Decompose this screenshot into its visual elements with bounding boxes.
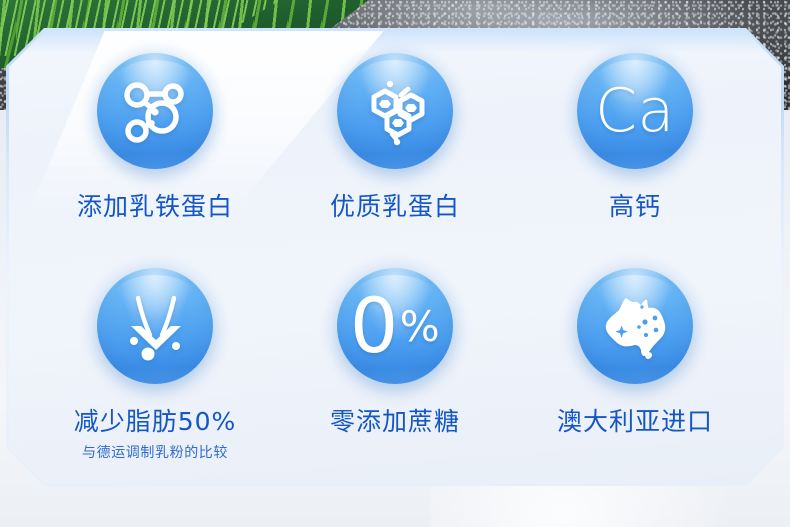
orb-wrapper (329, 45, 461, 177)
orb-circle (97, 53, 213, 169)
feature-label: 减少脂肪50% (74, 408, 237, 436)
feature-item-lactoferrin[interactable]: 添加乳铁蛋白 (35, 45, 275, 256)
feature-grid: 添加乳铁蛋白 (9, 31, 781, 483)
feature-card-inner: 添加乳铁蛋白 (9, 31, 781, 483)
feature-sublabel: 与德运调制乳粉的比较 (82, 442, 228, 462)
feature-label: 澳大利亚进口 (557, 408, 713, 436)
feature-label: 零添加蔗糖 (330, 408, 460, 436)
feature-item-no-added-sugar[interactable]: 0 % 零添加蔗糖 (275, 256, 515, 467)
zero-percent-icon: 0 % (350, 288, 440, 364)
feature-item-high-calcium[interactable]: Ca 高钙 (515, 45, 755, 256)
orb-wrapper (89, 45, 221, 177)
down-arrow-droplets-icon (117, 288, 193, 364)
calcium-symbol-icon: Ca (595, 81, 675, 141)
feature-label: 高钙 (609, 193, 661, 221)
australia-map-icon (598, 292, 672, 360)
orb-circle (577, 268, 693, 384)
orb-circle: 0 % (337, 268, 453, 384)
orb-wrapper: Ca (569, 45, 701, 177)
feature-card: 添加乳铁蛋白 (6, 28, 784, 486)
percent-sign: % (400, 306, 440, 348)
orb-circle (97, 268, 213, 384)
feature-item-australia-import[interactable]: 澳大利亚进口 (515, 256, 755, 467)
feature-item-milk-protein[interactable]: 优质乳蛋白 (275, 45, 515, 256)
molecule-nodes-icon (118, 74, 192, 148)
orb-wrapper: 0 % (329, 260, 461, 392)
feature-label: 添加乳铁蛋白 (77, 193, 233, 221)
feature-item-reduced-fat[interactable]: 减少脂肪50% 与德运调制乳粉的比较 (35, 256, 275, 467)
zero-digit: 0 (350, 288, 399, 364)
feature-label: 优质乳蛋白 (330, 193, 460, 221)
orb-wrapper (89, 260, 221, 392)
orb-wrapper (569, 260, 701, 392)
orb-circle (337, 53, 453, 169)
orb-circle: Ca (577, 53, 693, 169)
hexagon-rings-icon (357, 75, 433, 147)
